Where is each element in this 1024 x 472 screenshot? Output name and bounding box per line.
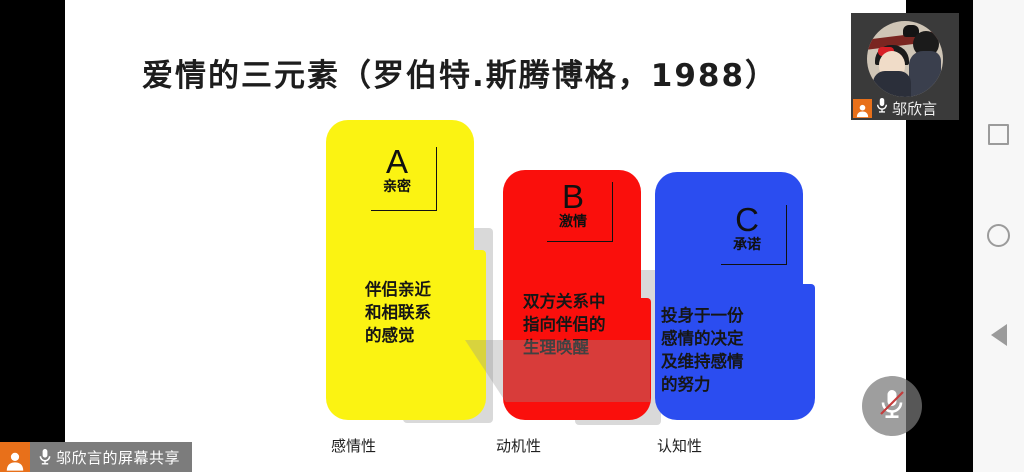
screen-share-label: 邬欣言的屏幕共享 (56, 447, 192, 468)
card-body-a: 伴侣亲近 和相联系 的感觉 (365, 278, 465, 347)
shared-screen-slide: 爱情的三元素（罗伯特.斯腾博格，1988） A 亲密 伴侣亲近 和相联系 的感觉… (65, 0, 906, 472)
avatar-second-body (909, 51, 941, 97)
circle-icon[interactable] (973, 212, 1024, 258)
card-body-c: 投身于一份 感情的决定 及维持感情 的努力 (661, 304, 765, 396)
bracket-vertical-icon (612, 182, 613, 242)
microphone-muted-icon (876, 387, 908, 426)
microphone-icon (875, 97, 889, 119)
bracket-horizontal-icon (547, 241, 613, 242)
phone-screen: 爱情的三元素（罗伯特.斯腾博格，1988） A 亲密 伴侣亲近 和相联系 的感觉… (0, 0, 1024, 472)
card-keyword-a: 亲密 (363, 179, 437, 196)
mute-toggle-button[interactable] (862, 376, 922, 436)
tile-footer: 邬欣言 (851, 97, 937, 119)
axis-label-c: 认知性 (657, 435, 702, 456)
self-video-tile[interactable]: 邬欣言 (851, 13, 959, 120)
bracket-horizontal-icon (721, 264, 787, 265)
person-icon (853, 99, 872, 118)
screen-share-status-bar[interactable]: 邬欣言的屏幕共享 (0, 442, 192, 472)
card-keyword-b: 激情 (539, 214, 613, 231)
card-letter-b: B (539, 180, 613, 214)
android-navigation-bar (973, 0, 1024, 472)
avatar (867, 21, 943, 97)
bracket-horizontal-icon (371, 210, 437, 211)
card-body-b: 双方关系中 指向伴侣的 生理唤醒 (523, 290, 627, 359)
person-icon (0, 442, 30, 472)
avatar-body (873, 71, 911, 97)
triangle-back-icon[interactable] (973, 312, 1024, 358)
participant-name: 邬欣言 (892, 98, 937, 119)
card-badge-c: C 承诺 (713, 203, 787, 265)
square-icon[interactable] (973, 111, 1024, 157)
axis-label-a: 感情性 (331, 435, 376, 456)
card-badge-b: B 激情 (539, 180, 613, 242)
card-keyword-c: 承诺 (713, 237, 787, 254)
card-letter-a: A (363, 145, 437, 179)
bracket-vertical-icon (786, 205, 787, 265)
page-title: 爱情的三元素（罗伯特.斯腾博格，1988） (65, 50, 855, 95)
bracket-vertical-icon (436, 147, 437, 211)
card-letter-c: C (713, 203, 787, 237)
axis-label-b: 动机性 (496, 435, 541, 456)
card-badge-a: A 亲密 (363, 145, 437, 211)
microphone-icon (30, 448, 56, 466)
